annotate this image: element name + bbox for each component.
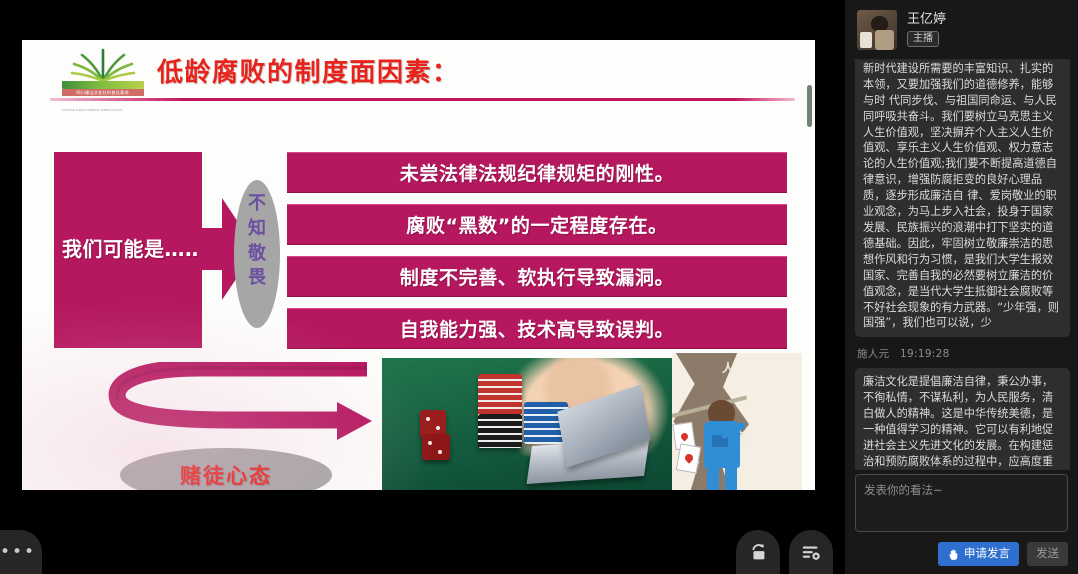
chat-host-header[interactable]: 王亿婷 主播 <box>845 0 1078 59</box>
road-label-top: 人 <box>722 359 734 376</box>
list-settings-icon <box>800 541 822 563</box>
curved-loop-arrow-icon <box>82 362 372 462</box>
factor-bar: 未尝法律法规纪律规矩的刚性。 <box>287 152 787 193</box>
more-horizontal-icon: ••• <box>0 544 36 561</box>
request-to-speak-button[interactable]: 申请发言 <box>938 542 1019 566</box>
factor-bar: 腐败“黑数”的一定程度存在。 <box>287 204 787 245</box>
chat-message-bubble: 新时代建设所需要的丰富知识、扎实的本领，又要加强我们的道德修养，能够与时 代同步… <box>855 60 1070 337</box>
logo-name-band: 四川廉洁文化社科普及基地 <box>62 89 144 96</box>
vertical-char-1: 知 <box>234 217 280 242</box>
vertical-char-3: 畏 <box>234 266 280 291</box>
slide-title: 低龄腐败的制度面因素： <box>157 52 460 89</box>
bottom-ellipse-text: 赌徒心态 <box>180 460 272 490</box>
chat-composer: 发表你的看法~ 申请发言 发送 <box>845 470 1078 574</box>
logo-band <box>62 81 144 89</box>
logo-subtitle-text: SICHUAN LIANJIE WENHUA SHEKE PUJI JIDI <box>62 108 122 112</box>
vertical-char-0: 不 <box>234 192 280 217</box>
fan-book-icon <box>70 48 136 82</box>
factor-bar: 自我能力强、技术高导致误判。 <box>287 308 787 349</box>
shared-slide[interactable]: 四川廉洁文化社科普及基地 SICHUAN LIANJIE WENHUA SHEK… <box>22 40 815 490</box>
chat-panel: 王亿婷 主播 新时代建设所需要的丰富知识、扎实的本领，又要加强我们的道德修养，能… <box>845 0 1078 574</box>
video-stage[interactable]: 四川廉洁文化社科普及基地 SICHUAN LIANJIE WENHUA SHEK… <box>0 0 845 574</box>
rotate-screen-button[interactable] <box>736 530 780 574</box>
casino-photo <box>382 358 672 490</box>
message-sender-name: 施人元 <box>857 348 889 360</box>
vertical-char-2: 敬 <box>234 242 280 267</box>
chat-message-meta: 施人元 19:19:28 <box>855 343 1070 362</box>
logo-name-text: 四川廉洁文化社科普及基地 <box>77 90 129 96</box>
slide-header: 四川廉洁文化社科普及基地 SICHUAN LIANJIE WENHUA SHEK… <box>22 40 815 102</box>
chat-message-bubble: 廉洁文化是提倡廉洁自律，秉公办事，不徇私情，不谋私利，为人民服务，清白做人的精神… <box>855 368 1070 470</box>
list-settings-button[interactable] <box>789 530 833 574</box>
message-input[interactable]: 发表你的看法~ <box>855 474 1068 532</box>
message-timestamp: 19:19:28 <box>900 348 950 360</box>
slide-scrollbar[interactable] <box>807 85 812 127</box>
factor-bar: 制度不完善、软执行导致漏洞。 <box>287 256 787 297</box>
avatar <box>857 10 897 50</box>
send-button[interactable]: 发送 <box>1027 542 1068 566</box>
message-input-placeholder: 发表你的看法~ <box>864 483 943 497</box>
request-to-speak-label: 申请发言 <box>964 547 1010 561</box>
factor-bar-list: 未尝法律法规纪律规矩的刚性。 腐败“黑数”的一定程度存在。 制度不完善、软执行导… <box>287 152 787 360</box>
title-underline <box>50 98 795 101</box>
cartoon-illustration: 人 生 <box>672 353 802 490</box>
host-name: 王亿婷 <box>907 13 946 26</box>
send-button-label: 发送 <box>1036 547 1059 561</box>
video-toolbar: ••• <box>0 522 845 574</box>
rotate-screen-icon <box>747 541 769 563</box>
vertical-ellipse: 不 知 敬 畏 <box>234 180 280 328</box>
hand-raise-icon <box>947 548 960 561</box>
more-options-button[interactable]: ••• <box>0 530 42 574</box>
status-badge: 主播 <box>907 31 939 48</box>
organization-logo-icon: 四川廉洁文化社科普及基地 SICHUAN LIANJIE WENHUA SHEK… <box>60 48 146 100</box>
chat-message-list[interactable]: 新时代建设所需要的丰富知识、扎实的本领，又要加强我们的道德修养，能够与时 代同步… <box>845 60 1078 470</box>
vertical-ellipse-text: 不 知 敬 畏 <box>234 192 280 291</box>
app-root: 四川廉洁文化社科普及基地 SICHUAN LIANJIE WENHUA SHEK… <box>0 0 1078 574</box>
